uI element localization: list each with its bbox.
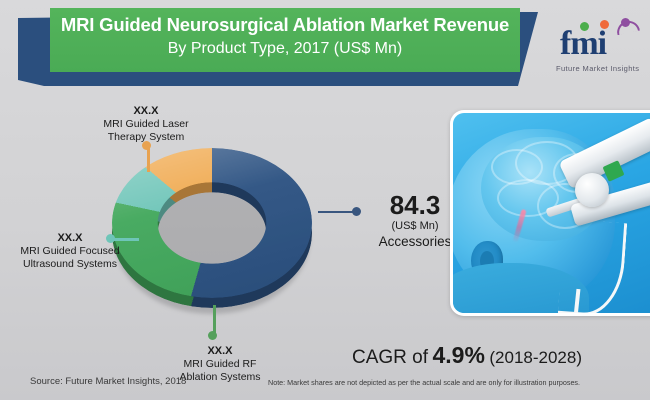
note-text: Note: Market shares are not depicted as … <box>268 378 580 387</box>
cagr-label: CAGR of <box>352 347 428 368</box>
source-text: Source: Future Market Insights, 2018 <box>30 376 186 387</box>
robotic-arm-joint <box>575 173 609 207</box>
logo-wordmark: fmi <box>560 25 606 63</box>
donut-segments <box>112 148 312 298</box>
procedure-photo <box>450 110 650 316</box>
cagr-statement: CAGR of 4.9% (2018-2028) <box>352 342 582 369</box>
logo-dot-purple-icon <box>621 18 630 27</box>
device-cable <box>558 219 627 316</box>
callout-laser-label-line2: Therapy System <box>76 131 216 144</box>
leader-line-rf <box>213 305 216 334</box>
callout-focused-ultrasound: XX.X MRI Guided Focused Ultrasound Syste… <box>4 232 136 270</box>
leader-dot-accessories-icon <box>352 207 361 216</box>
leader-line-laser <box>147 147 150 172</box>
leader-line-accessories <box>318 211 354 213</box>
infographic-canvas: MRI Guided Neurosurgical Ablation Market… <box>0 0 650 400</box>
callout-laser-value: XX.X <box>76 105 216 118</box>
callout-ultrasound-value: XX.X <box>4 232 136 245</box>
callout-ultrasound-label-line1: MRI Guided Focused <box>4 245 136 258</box>
leader-dot-rf-icon <box>208 331 217 340</box>
callout-laser-therapy: XX.X MRI Guided Laser Therapy System <box>76 105 216 143</box>
donut-chart <box>112 148 312 320</box>
fmi-logo: fmi Future Market Insights <box>552 18 642 76</box>
callout-laser-label-line1: MRI Guided Laser <box>76 118 216 131</box>
callout-ultrasound-label-line2: Ultrasound Systems <box>4 258 136 271</box>
callout-rf-label-line1: MRI Guided RF <box>150 358 290 371</box>
cagr-value: 4.9% <box>432 342 484 368</box>
cagr-period: (2018-2028) <box>489 348 582 367</box>
page-title: MRI Guided Neurosurgical Ablation Market… <box>50 14 520 36</box>
callout-rf-value: XX.X <box>150 345 290 358</box>
logo-tagline: Future Market Insights <box>556 64 639 73</box>
page-subtitle: By Product Type, 2017 (US$ Mn) <box>50 40 520 58</box>
